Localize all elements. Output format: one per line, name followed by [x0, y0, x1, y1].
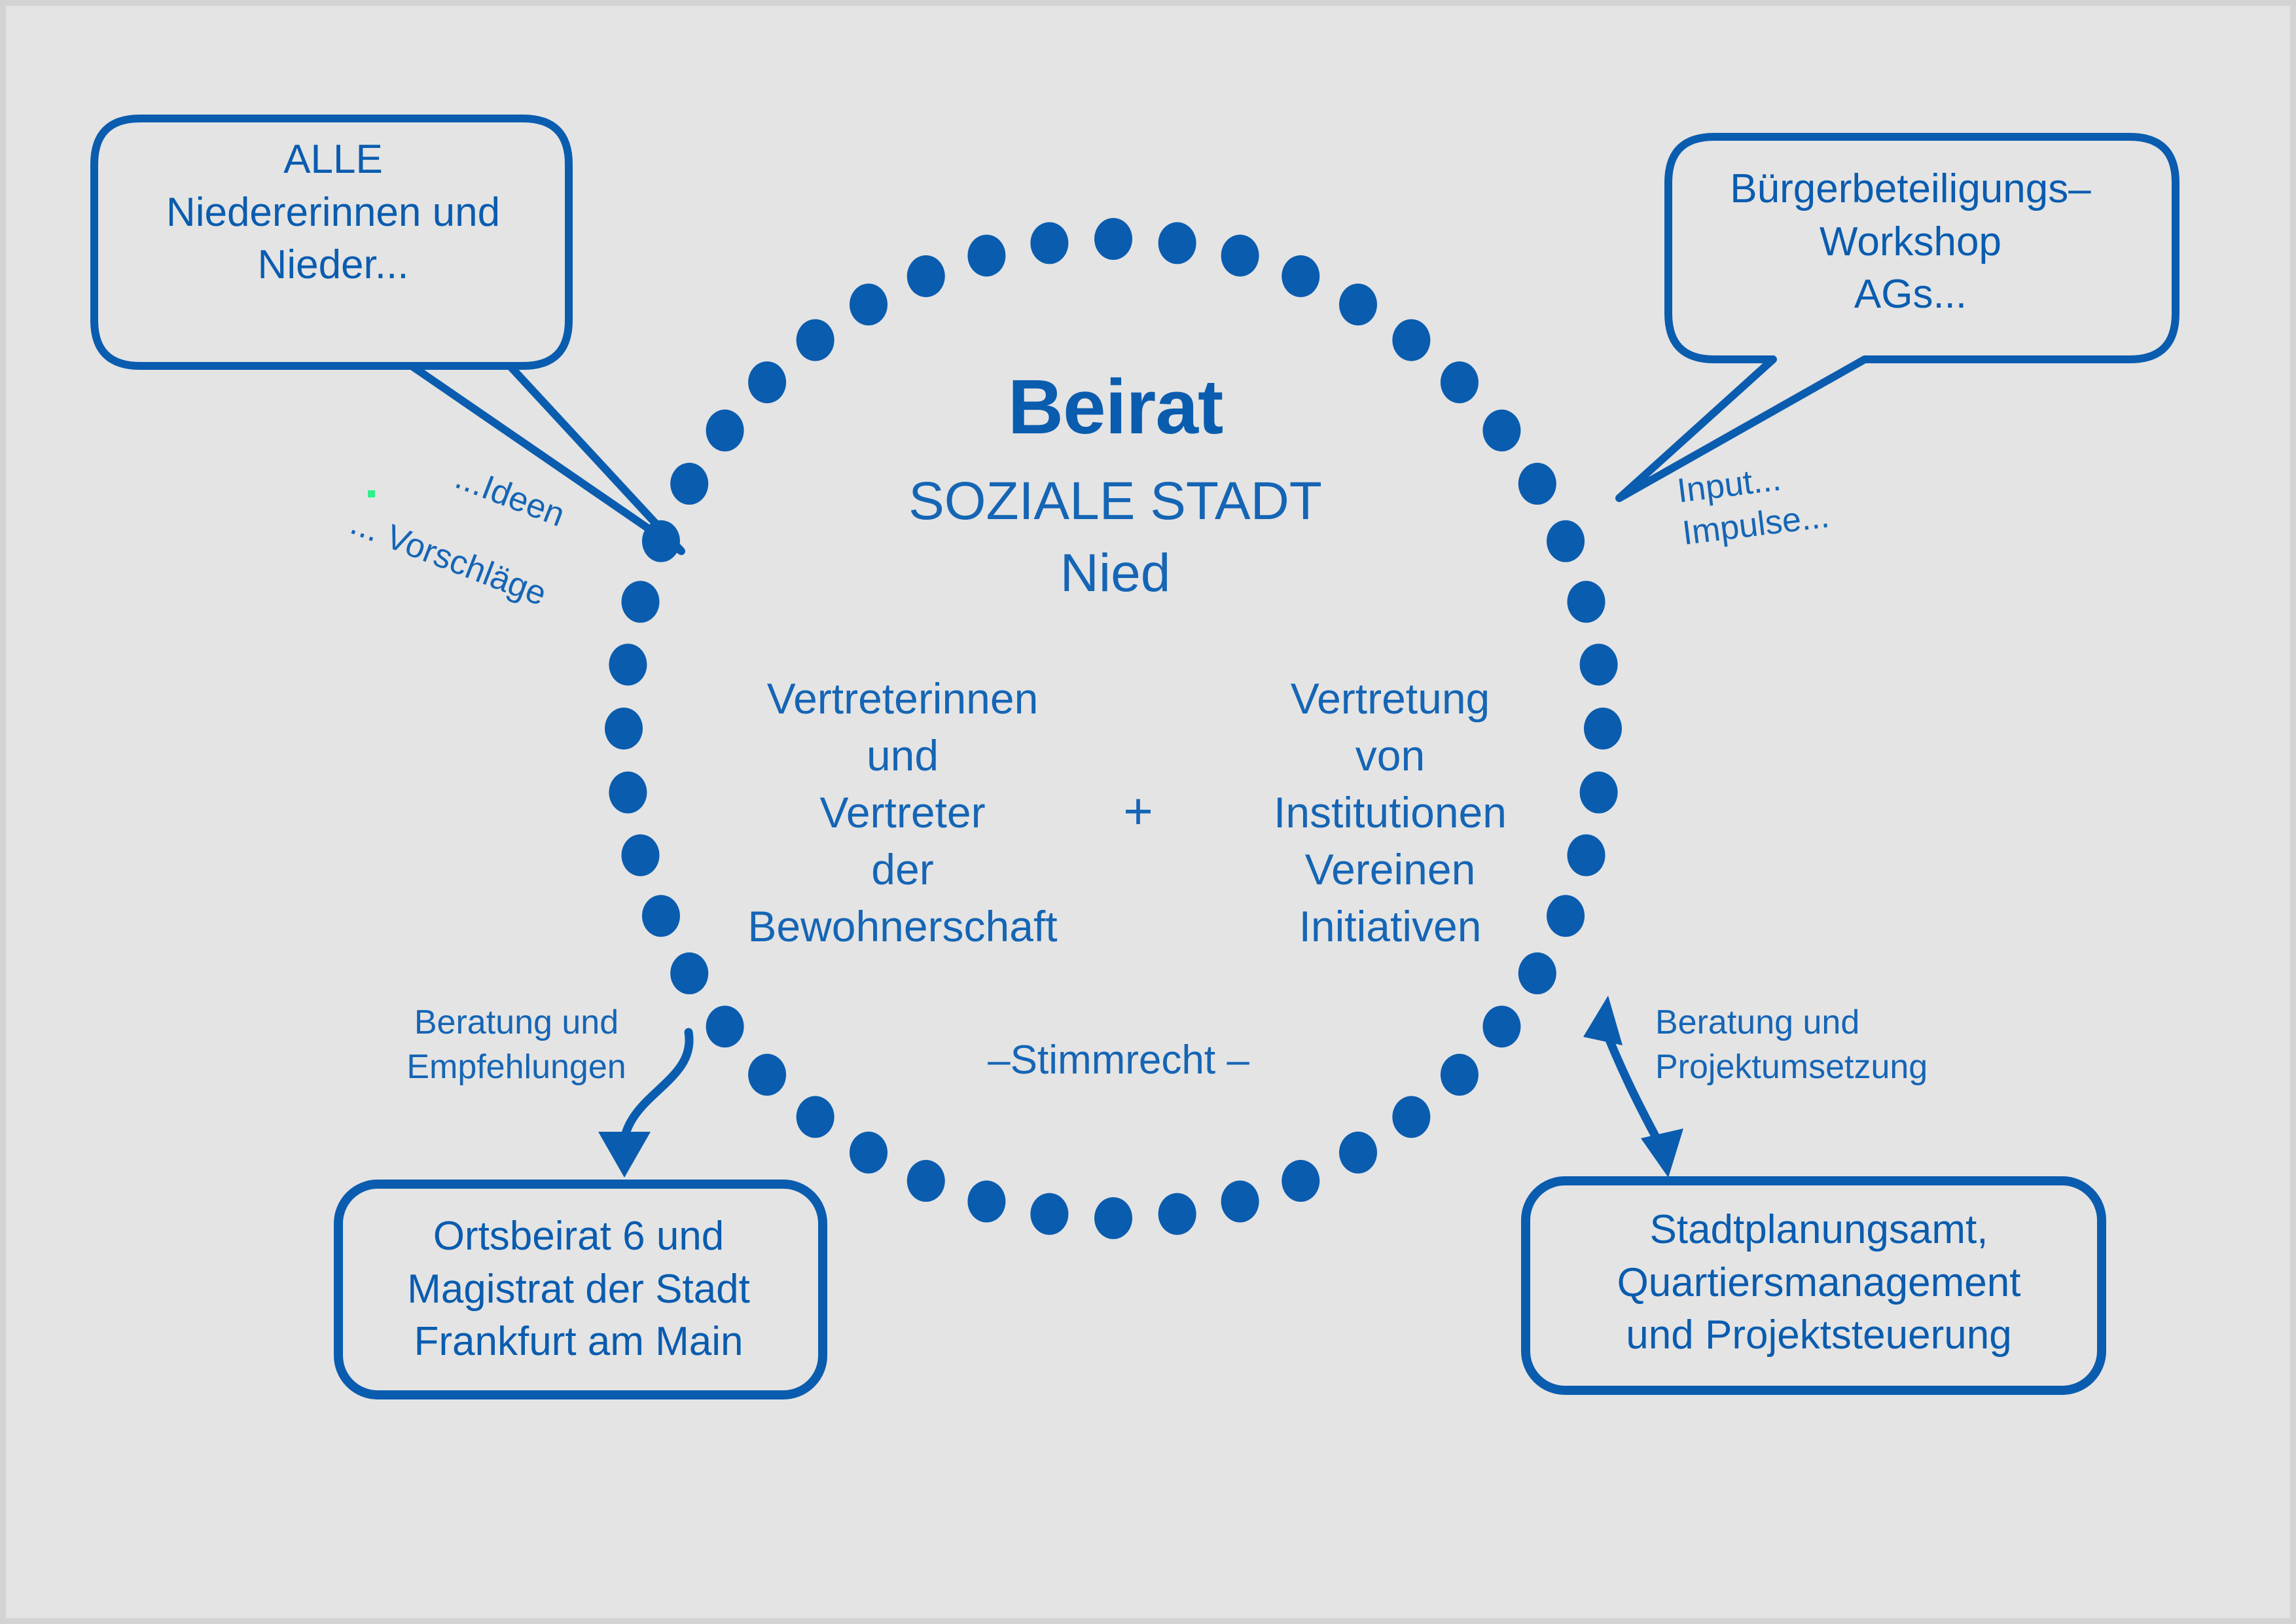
- circle-dot: [706, 410, 744, 452]
- center-subtitle-secondary: Nied: [745, 543, 1485, 604]
- circle-dot: [797, 319, 834, 361]
- circle-dot: [670, 952, 708, 994]
- center-title: Beirat: [745, 363, 1485, 452]
- circle-dot: [1482, 1005, 1520, 1047]
- circle-dot: [907, 1160, 945, 1202]
- box-bottom-left-label: Ortsbeirat 6 undMagistrat der StadtFrank…: [346, 1210, 811, 1369]
- circle-dot: [1518, 463, 1556, 505]
- circle-dot: [1392, 319, 1430, 361]
- circle-dot: [797, 1096, 834, 1138]
- center-subtitle: SOZIALE STADT: [745, 471, 1485, 532]
- circle-dot: [1030, 1193, 1068, 1235]
- plus-icon: +: [1079, 782, 1197, 841]
- circle-dot: [670, 463, 708, 505]
- circle-dot: [1282, 1160, 1319, 1202]
- circle-dot: [1441, 1054, 1479, 1096]
- circle-dot: [609, 643, 647, 685]
- center-right-column: VertretungvonInstitutionenVereinenInitia…: [1187, 670, 1593, 956]
- circle-dot: [621, 835, 659, 876]
- circle-dot: [642, 895, 680, 937]
- circle-dot: [1339, 1132, 1377, 1174]
- arrow-label-beratung-projektumsetzung: Beratung undProjektumsetzung: [1655, 1001, 1963, 1089]
- circle-dot: [621, 581, 659, 623]
- speech-bubble-top-left-label: ALLENiedererinnen undNieder...: [98, 134, 569, 292]
- circle-dot: [1392, 1096, 1430, 1138]
- circle-dot: [1547, 520, 1585, 562]
- circle-dot: [1482, 410, 1520, 452]
- circle-dot: [605, 708, 643, 749]
- circle-dot: [748, 1054, 786, 1096]
- circle-dot: [1339, 283, 1377, 325]
- circle-dot: [850, 1132, 888, 1174]
- circle-dot: [1158, 222, 1196, 264]
- circle-dot: [1158, 1193, 1196, 1235]
- circle-dot: [1030, 222, 1068, 264]
- green-artifact-pixel: [368, 490, 375, 497]
- arrow-label-beratung-empfehlungen: Beratung undEmpfehlungen: [379, 1001, 654, 1089]
- circle-dot: [967, 234, 1005, 276]
- center-left-column: VertreterinnenundVertreterderBewohnersch…: [700, 670, 1105, 956]
- speech-bubble-top-right-label: Bürgerbeteiligungs–WorkshopAGs...: [1681, 163, 2140, 321]
- circle-dot: [1094, 218, 1132, 260]
- box-bottom-right-label: Stadtplanungsamt,Quartiersmanagementund …: [1524, 1204, 2113, 1362]
- circle-dot: [706, 1005, 744, 1047]
- center-footer-note: –Stimmrecht –: [916, 1037, 1321, 1083]
- circle-dot: [1221, 234, 1259, 276]
- circle-dot: [1518, 952, 1556, 994]
- circle-dot: [1221, 1181, 1259, 1223]
- circle-dot: [967, 1181, 1005, 1223]
- circle-dot: [907, 255, 945, 297]
- diagram-canvas: ALLENiedererinnen undNieder... Bürgerbet…: [0, 0, 2296, 1624]
- circle-dot: [1568, 581, 1605, 623]
- connector-label-input-impulse: Input...Impulse...: [1675, 453, 1832, 556]
- circle-dot: [850, 283, 888, 325]
- circle-dot: [1282, 255, 1319, 297]
- circle-dot: [1094, 1197, 1132, 1239]
- circle-dot: [609, 772, 647, 814]
